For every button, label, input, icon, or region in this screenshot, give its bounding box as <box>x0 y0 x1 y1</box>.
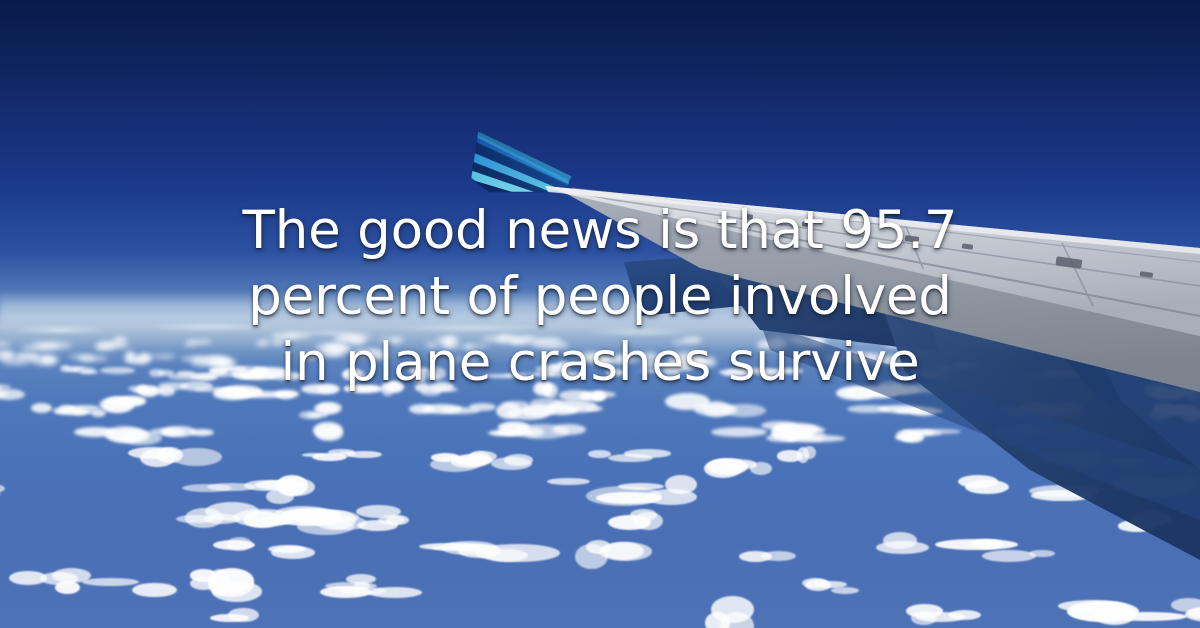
caption-text: The good news is that 95.7 percent of pe… <box>0 198 1200 396</box>
caption-line-3: in plane crashes survive <box>0 330 1200 396</box>
image-canvas: The good news is that 95.7 percent of pe… <box>0 0 1200 628</box>
caption-line-1: The good news is that 95.7 <box>0 198 1200 264</box>
caption-line-2: percent of people involved <box>0 264 1200 330</box>
